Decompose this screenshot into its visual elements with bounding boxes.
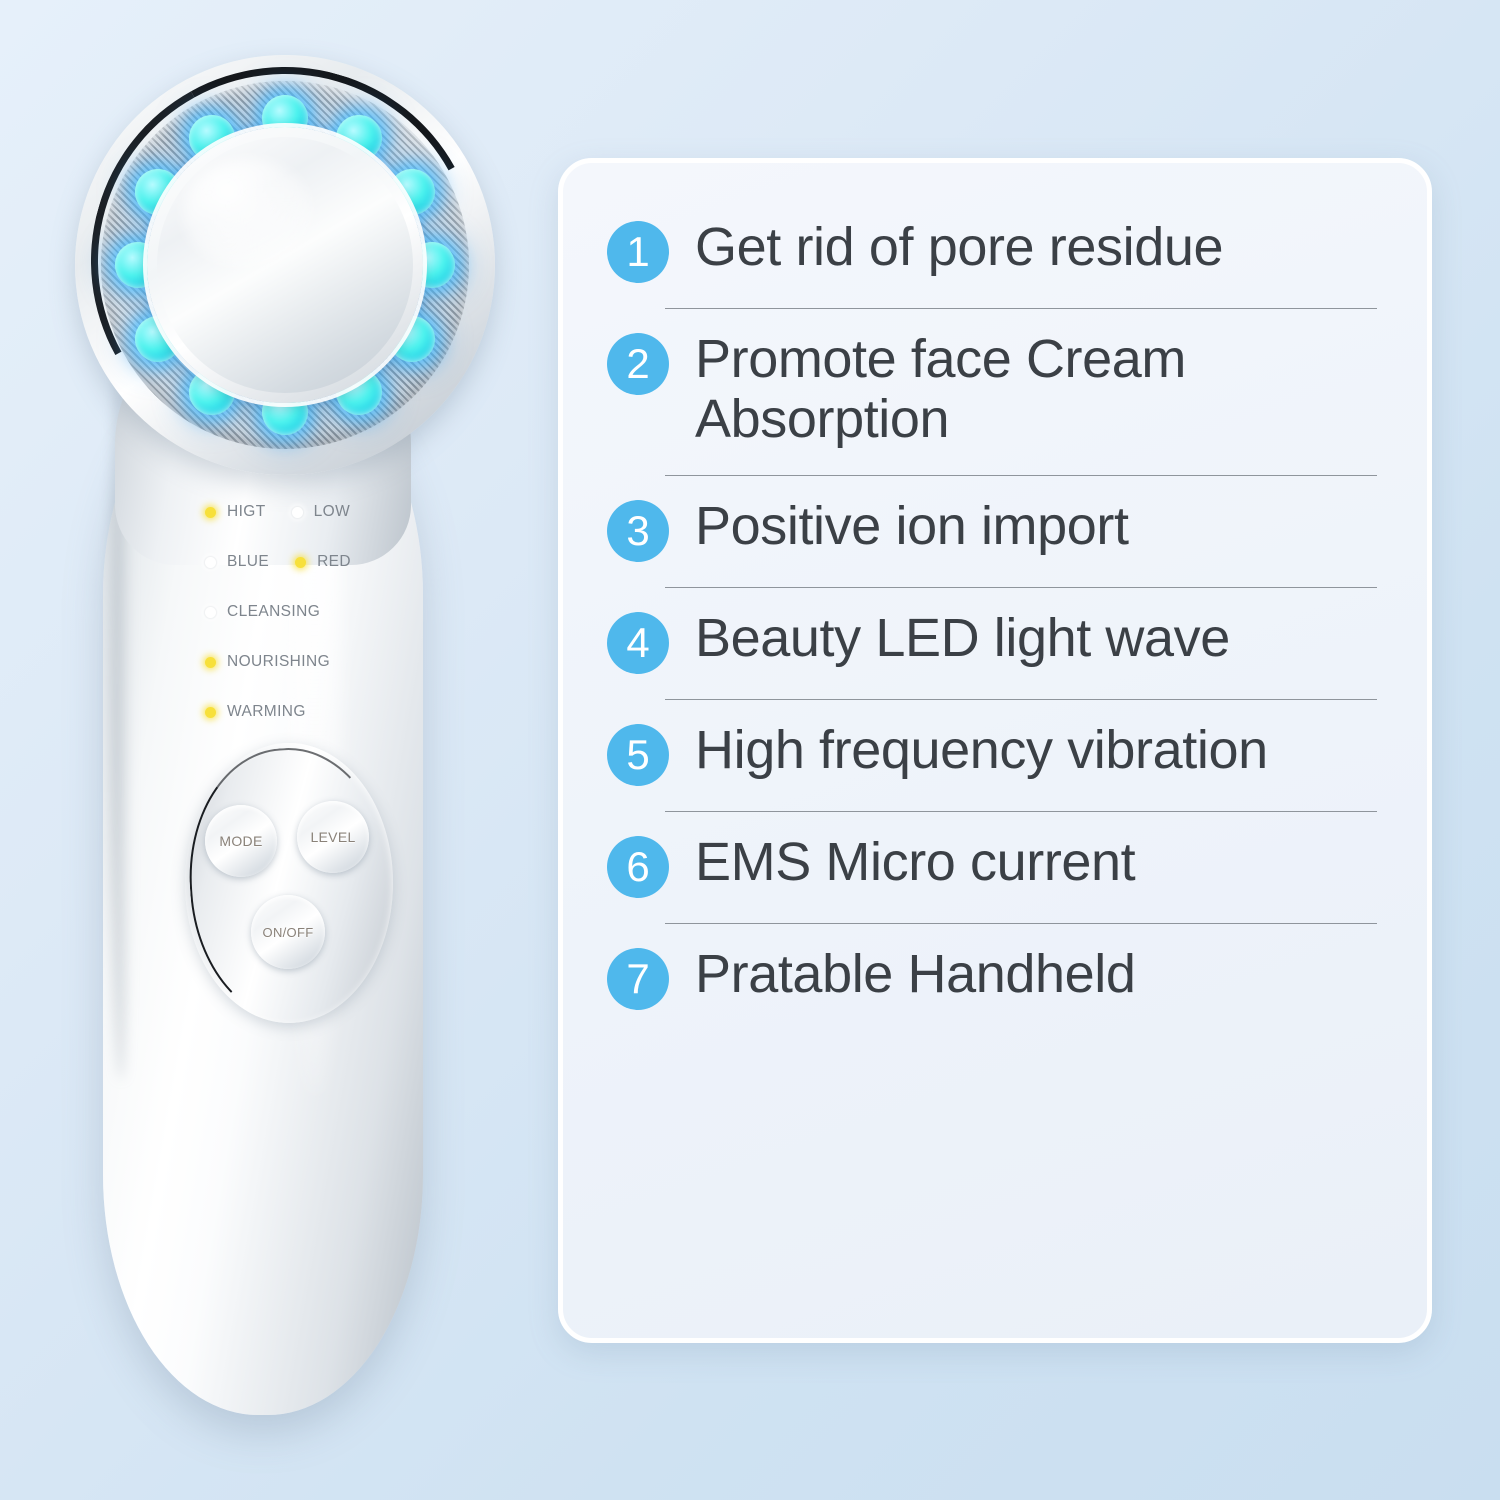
feature-text-6: EMS Micro current: [695, 832, 1135, 892]
feature-badge-6: 6: [607, 836, 669, 898]
head-plate-highlight: [183, 159, 313, 269]
feature-item-3: 3 Positive ion import: [607, 500, 1383, 562]
on-off-button[interactable]: ON/OFF: [251, 895, 325, 969]
status-indicator-list: HIGT LOW BLUE RED CLEANSING: [205, 487, 435, 737]
led-dot-white-icon: [205, 557, 216, 568]
feature-text-4: Beauty LED light wave: [695, 608, 1230, 668]
status-item-red: RED: [295, 553, 351, 571]
led-dot-yellow-icon: [205, 707, 216, 718]
feature-badge-5: 5: [607, 724, 669, 786]
control-button-panel: MODE LEVEL ON/OFF: [185, 743, 393, 1023]
status-label-low: LOW: [314, 503, 351, 521]
status-label-nourishing: NOURISHING: [227, 653, 330, 671]
led-dot-yellow-icon: [205, 657, 216, 668]
feature-text-5: High frequency vibration: [695, 720, 1268, 780]
level-button[interactable]: LEVEL: [297, 801, 369, 873]
status-row: BLUE RED: [205, 537, 435, 587]
status-item-cleansing: CLEANSING: [205, 603, 320, 621]
feature-item-4: 4 Beauty LED light wave: [607, 612, 1383, 674]
mode-button[interactable]: MODE: [205, 805, 277, 877]
feature-divider: [665, 923, 1377, 924]
feature-item-2: 2 Promote face Cream Absorption: [607, 333, 1383, 450]
feature-divider: [665, 475, 1377, 476]
status-item-warming: WARMING: [205, 703, 306, 721]
feature-badge-4: 4: [607, 612, 669, 674]
status-label-red: RED: [317, 553, 351, 571]
status-label-blue: BLUE: [227, 553, 269, 571]
status-row: CLEANSING: [205, 587, 435, 637]
led-dot-white-icon: [205, 607, 216, 618]
status-item-nourishing: NOURISHING: [205, 653, 330, 671]
feature-badge-1: 1: [607, 221, 669, 283]
feature-divider: [665, 587, 1377, 588]
feature-text-2: Promote face Cream Absorption: [695, 329, 1383, 450]
status-row: NOURISHING: [205, 637, 435, 687]
feature-text-3: Positive ion import: [695, 496, 1129, 556]
feature-item-5: 5 High frequency vibration: [607, 724, 1383, 786]
feature-badge-3: 3: [607, 500, 669, 562]
led-dot-yellow-icon: [295, 557, 306, 568]
status-label-warming: WARMING: [227, 703, 306, 721]
feature-text-1: Get rid of pore residue: [695, 217, 1223, 277]
feature-item-7: 7 Pratable Handheld: [607, 948, 1383, 1010]
led-dot-white-icon: [292, 507, 303, 518]
status-item-blue: BLUE: [205, 553, 269, 571]
status-label-cleansing: CLEANSING: [227, 603, 320, 621]
led-dot-yellow-icon: [205, 507, 216, 518]
status-item-low: LOW: [292, 503, 351, 521]
feature-divider: [665, 308, 1377, 309]
feature-divider: [665, 811, 1377, 812]
feature-item-1: 1 Get rid of pore residue: [607, 221, 1383, 283]
feature-badge-2: 2: [607, 333, 669, 395]
feature-text-7: Pratable Handheld: [695, 944, 1136, 1004]
feature-badge-7: 7: [607, 948, 669, 1010]
feature-divider: [665, 699, 1377, 700]
feature-list-panel: 1 Get rid of pore residue 2 Promote face…: [558, 158, 1432, 1343]
status-row: HIGT LOW: [205, 487, 435, 537]
status-label-higt: HIGT: [227, 503, 266, 521]
handheld-beauty-device: HIGT LOW BLUE RED CLEANSING: [75, 55, 495, 1375]
feature-item-6: 6 EMS Micro current: [607, 836, 1383, 898]
status-row: WARMING: [205, 687, 435, 737]
status-item-higt: HIGT: [205, 503, 266, 521]
device-head: [75, 55, 495, 475]
